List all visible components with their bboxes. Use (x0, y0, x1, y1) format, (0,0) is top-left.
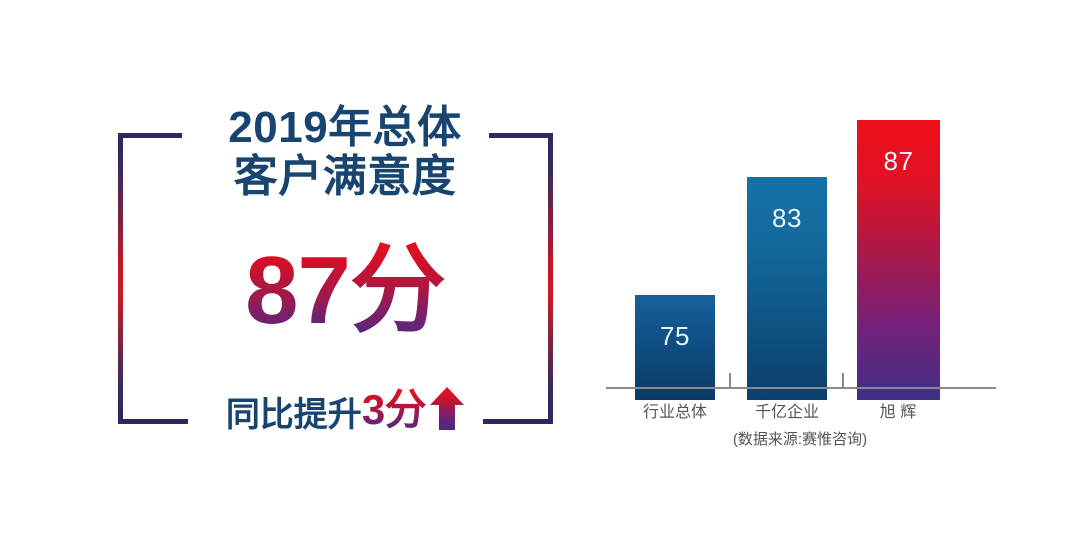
bar-cifi: 87 (857, 120, 940, 400)
bar-value-label: 83 (747, 203, 827, 234)
x-axis-label-hundred-billion-enterprise: 千亿企业 (727, 398, 847, 422)
x-axis-line (606, 387, 996, 389)
bar-chart: 75 83 87 行业总体 千亿企业 旭 辉 (数据来源:赛惟咨询) (600, 80, 1000, 480)
x-axis-label-cifi: 旭 辉 (838, 398, 958, 422)
bar-industry-total: 75 (635, 295, 715, 400)
bar-value-label: 75 (635, 321, 715, 352)
arrow-up-icon (430, 387, 464, 430)
bracket-right-vertical (548, 133, 553, 424)
x-axis-tick (842, 373, 844, 387)
headline-line-2: 客户满意度 (150, 152, 540, 201)
score-value: 87分 (245, 237, 445, 344)
delta-row: 同比提升3分 (150, 387, 540, 432)
x-axis-tick (729, 373, 731, 387)
bar-value-label: 87 (857, 146, 940, 177)
chart-plot-area: 75 83 87 行业总体 千亿企业 旭 辉 (数据来源:赛惟咨询) (600, 80, 1000, 400)
infographic-canvas: 2019年总体 客户满意度 87分 同比提升3分 (0, 0, 1080, 545)
bar-hundred-billion-enterprise: 83 (747, 177, 827, 400)
chart-source-note: (数据来源:赛惟咨询) (600, 428, 1000, 449)
delta-label: 同比提升 (226, 396, 362, 434)
headline-line-1: 2019年总体 (150, 103, 540, 152)
x-axis-label-industry-total: 行业总体 (615, 398, 735, 422)
score-row: 87分 (150, 243, 540, 339)
delta-value: 3分 (362, 386, 426, 433)
headline-title: 2019年总体 客户满意度 (150, 103, 540, 202)
bracket-left-vertical (118, 133, 123, 424)
